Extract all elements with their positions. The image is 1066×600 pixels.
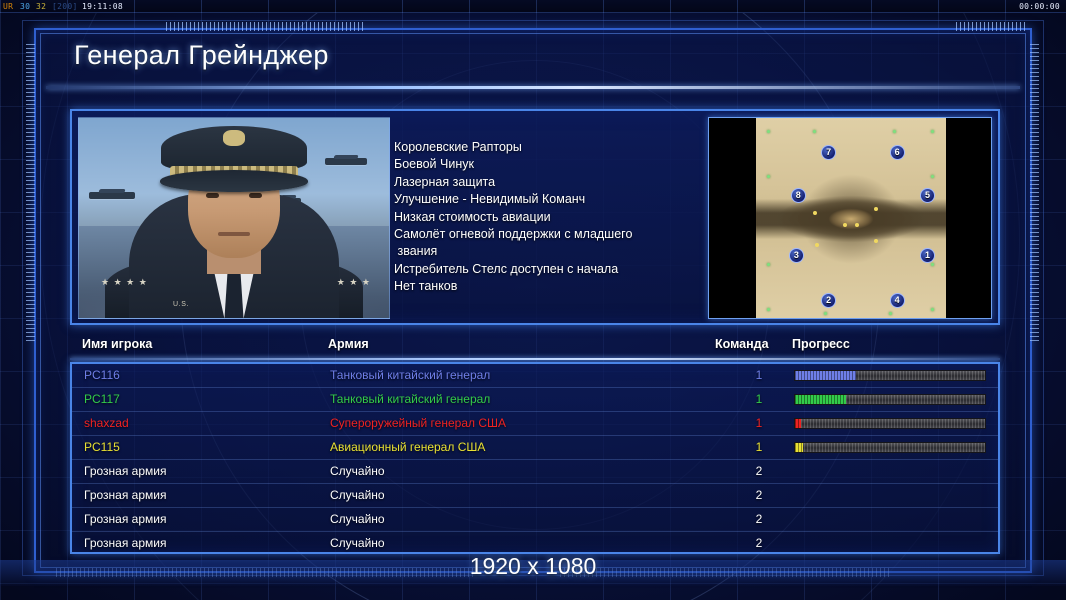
map-tech-dot-icon: [889, 312, 892, 315]
game-lobby-screen: UR 30 32 [200] 19:11:08 00:00:00 Генерал…: [0, 0, 1066, 600]
table-row[interactable]: Грозная армияСлучайно2: [72, 460, 998, 484]
hud-seg-32: 32: [36, 0, 46, 13]
column-header-progress: Прогресс: [792, 337, 850, 351]
ruler-left-icon: [26, 44, 35, 344]
map-start-position-2: 2: [821, 293, 836, 308]
table-row[interactable]: Грозная армияСлучайно2: [72, 484, 998, 508]
player-team: 1: [744, 440, 774, 454]
map-tech-dot-icon: [931, 308, 934, 311]
progress-bar: [794, 442, 986, 453]
player-army: Танковый китайский генерал: [330, 392, 490, 406]
title-zone: Генерал Грейнджер: [46, 38, 1020, 88]
map-tech-dot-icon: [931, 263, 934, 266]
map-resource-icon: [874, 207, 878, 211]
map-tech-dot-icon: [767, 130, 770, 133]
cap-visor: [160, 170, 308, 192]
resolution-caption: 1920 x 1080: [0, 553, 1066, 580]
map-resource-icon: [874, 239, 878, 243]
map-tech-dot-icon: [931, 175, 934, 178]
hud-seg-ur: UR: [3, 0, 13, 13]
map-start-position-4: 4: [890, 293, 905, 308]
table-row[interactable]: PC116Танковый китайский генерал1: [72, 364, 998, 388]
progress-bar-fill: [795, 395, 846, 404]
portrait-eye-right: [249, 193, 262, 198]
title-divider: [46, 86, 1020, 89]
progress-bar: [794, 394, 986, 405]
ability-item: Боевой Чинук: [394, 156, 712, 173]
rank-stars-left: ★ ★ ★ ★: [101, 277, 148, 288]
hud-tick-marks: [0, 0, 1066, 13]
uniform-us-tab: U.S.: [173, 301, 189, 308]
player-name: Грозная армия: [84, 464, 166, 478]
ability-item: Лазерная защита: [394, 174, 712, 191]
map-start-position-5: 5: [920, 188, 935, 203]
general-info-panel: ★ ★ ★ ★ ★ ★ ★ U.S. Королевские РапторыБо…: [70, 109, 1000, 325]
ability-item: Королевские Рапторы: [394, 139, 712, 156]
column-header-army: Армия: [328, 337, 369, 351]
ruler-top-icon: [166, 22, 366, 31]
ability-item: Нет танков: [394, 278, 712, 295]
hud-seg-clock: 19:11:08: [82, 0, 123, 13]
player-army: Случайно: [330, 488, 385, 502]
player-team: 2: [744, 512, 774, 526]
player-list: Имя игрока Армия Команда Прогресс PC116Т…: [70, 336, 1000, 556]
portrait-eye-left: [206, 193, 219, 198]
map-tech-dot-icon: [767, 175, 770, 178]
player-name: PC116: [84, 368, 120, 382]
column-header-team: Команда: [715, 337, 769, 351]
map-tech-dot-icon: [767, 308, 770, 311]
player-name: shaxzad: [84, 416, 129, 430]
player-rows: PC116Танковый китайский генерал1PC117Тан…: [70, 362, 1000, 554]
player-army: Случайно: [330, 536, 385, 550]
progress-bar: [794, 418, 986, 429]
player-name: Грозная армия: [84, 488, 166, 502]
map-start-position-1: 1: [920, 248, 935, 263]
ruler-right-icon: [1030, 44, 1039, 344]
player-team: 2: [744, 488, 774, 502]
ability-item: Истребитель Стелс доступен с начала: [394, 261, 712, 278]
map-resource-icon: [855, 223, 859, 227]
cap-eagle-badge-icon: [223, 130, 245, 146]
hud-seg-200: [200]: [52, 0, 78, 13]
map-tech-dot-icon: [767, 263, 770, 266]
ability-item: Самолёт огневой поддержки с младшего зва…: [394, 226, 712, 261]
map-start-position-3: 3: [789, 248, 804, 263]
map-preview[interactable]: 76853124: [708, 117, 992, 319]
player-team: 1: [744, 416, 774, 430]
rank-stars-right: ★ ★ ★: [337, 277, 371, 288]
map-tech-dot-icon: [893, 130, 896, 133]
ruler-top-right-icon: [956, 22, 1028, 31]
progress-bar-fill: [795, 371, 856, 380]
table-row[interactable]: shaxzadСупероружейный генерал США1: [72, 412, 998, 436]
map-tech-dot-icon: [813, 130, 816, 133]
map-start-position-6: 6: [890, 145, 905, 160]
table-row[interactable]: Грозная армияСлучайно2: [72, 508, 998, 532]
portrait-mouth: [218, 232, 250, 236]
page-title: Генерал Грейнджер: [74, 40, 329, 71]
general-portrait: ★ ★ ★ ★ ★ ★ ★ U.S.: [78, 117, 390, 319]
player-name: PC115: [84, 440, 120, 454]
player-team: 2: [744, 536, 774, 550]
map-start-position-7: 7: [821, 145, 836, 160]
player-army: Авиационный генерал США: [330, 440, 485, 454]
aircraft-icon: [89, 192, 135, 199]
column-header-name: Имя игрока: [82, 337, 152, 351]
header-divider: [70, 358, 1000, 360]
map-tech-dot-icon: [824, 312, 827, 315]
map-resource-icon: [815, 243, 819, 247]
map-resource-icon: [813, 211, 817, 215]
player-army: Случайно: [330, 512, 385, 526]
general-abilities-list: Королевские РапторыБоевой ЧинукЛазерная …: [394, 139, 712, 296]
map-terrain-image: 76853124: [756, 118, 946, 319]
map-tech-dot-icon: [931, 130, 934, 133]
player-name: Грозная армия: [84, 536, 166, 550]
player-name: PC117: [84, 392, 120, 406]
player-army: Случайно: [330, 464, 385, 478]
player-team: 1: [744, 392, 774, 406]
hud-seg-30: 30: [20, 0, 30, 13]
table-row[interactable]: PC115Авиационный генерал США1: [72, 436, 998, 460]
ability-item: Улучшение - Невидимый Команч: [394, 191, 712, 208]
hud-top-bar: UR 30 32 [200] 19:11:08 00:00:00: [0, 0, 1066, 13]
progress-bar-fill: [795, 419, 801, 428]
progress-bar: [794, 370, 986, 381]
progress-bar-fill: [795, 443, 803, 452]
table-row[interactable]: PC117Танковый китайский генерал1: [72, 388, 998, 412]
player-team: 2: [744, 464, 774, 478]
hud-timer: 00:00:00: [1019, 0, 1060, 13]
player-list-header: Имя игрока Армия Команда Прогресс: [70, 336, 1000, 360]
ability-item: Низкая стоимость авиации: [394, 209, 712, 226]
player-army: Супероружейный генерал США: [330, 416, 506, 430]
map-resource-icon: [843, 223, 847, 227]
player-army: Танковый китайский генерал: [330, 368, 490, 382]
aircraft-icon: [325, 158, 367, 165]
player-name: Грозная армия: [84, 512, 166, 526]
map-start-position-8: 8: [791, 188, 806, 203]
player-team: 1: [744, 368, 774, 382]
